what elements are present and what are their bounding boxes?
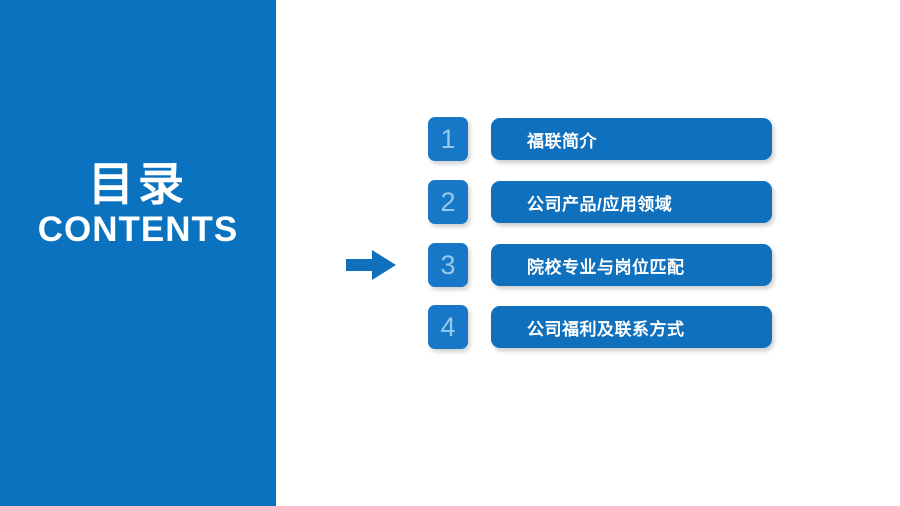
item-bar[interactable]: 院校专业与岗位匹配: [491, 244, 772, 286]
item-label: 院校专业与岗位匹配: [491, 253, 685, 278]
list-item[interactable]: 2 公司产品/应用领域: [428, 180, 900, 226]
list-item[interactable]: 1 福联简介: [428, 117, 900, 163]
list-item[interactable]: 4 公司福利及联系方式: [428, 305, 900, 351]
item-number-badge: 4: [428, 305, 468, 349]
presentation-slide: 目录 CONTENTS 1 福联简介 2 公司产品/应用领域 3 院校专: [0, 0, 900, 506]
list-item[interactable]: 3 院校专业与岗位匹配: [428, 243, 900, 289]
item-label: 公司福利及联系方式: [491, 315, 685, 340]
item-number-badge: 1: [428, 117, 468, 161]
contents-list: 1 福联简介 2 公司产品/应用领域 3 院校专业与岗位匹配 4 公司福利及联系…: [276, 0, 900, 506]
title-panel: 目录 CONTENTS: [0, 0, 276, 506]
title-english: CONTENTS: [0, 210, 276, 250]
item-bar[interactable]: 公司福利及联系方式: [491, 306, 772, 348]
item-label: 福联简介: [491, 127, 597, 152]
item-bar[interactable]: 福联简介: [491, 118, 772, 160]
item-label: 公司产品/应用领域: [491, 190, 672, 215]
page-title: 目录 CONTENTS: [0, 160, 276, 251]
arrow-right-icon: [346, 250, 396, 280]
title-chinese: 目录: [0, 160, 276, 208]
item-bar[interactable]: 公司产品/应用领域: [491, 181, 772, 223]
item-number-badge: 3: [428, 243, 468, 287]
item-number-badge: 2: [428, 180, 468, 224]
